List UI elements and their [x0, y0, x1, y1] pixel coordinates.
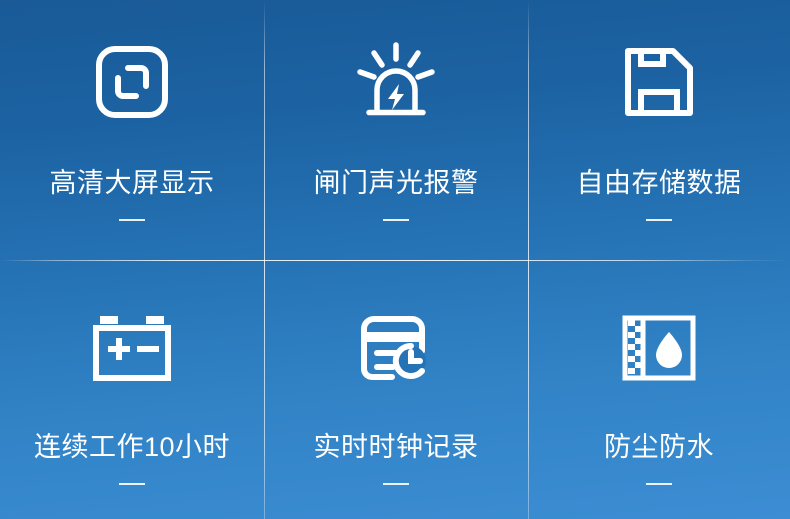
- feature-underline-dash: [383, 483, 409, 485]
- battery-icon: [92, 300, 172, 396]
- feature-title: 实时时钟记录: [314, 434, 479, 461]
- document-clock-icon: [360, 300, 432, 396]
- feature-title: 连续工作10小时: [34, 434, 230, 461]
- feature-title: 防尘防水: [604, 434, 714, 461]
- feature-highlights-panel: 高清大屏显示 闸门声光报警: [0, 0, 790, 519]
- feature-cell-data-storage[interactable]: 自由存储数据: [528, 0, 790, 260]
- dustproof-waterproof-icon: [622, 300, 696, 396]
- floppy-disk-save-icon: [623, 34, 695, 130]
- feature-title: 闸门声光报警: [314, 170, 479, 197]
- feature-title: 高清大屏显示: [50, 170, 215, 197]
- feature-cell-screen-display[interactable]: 高清大屏显示: [0, 0, 264, 260]
- screen-frame-icon: [95, 34, 169, 130]
- feature-title: 自由存储数据: [577, 170, 742, 197]
- feature-underline-dash: [646, 219, 672, 221]
- feature-underline-dash: [119, 483, 145, 485]
- feature-grid: 高清大屏显示 闸门声光报警: [0, 0, 790, 519]
- feature-underline-dash: [383, 219, 409, 221]
- feature-underline-dash: [119, 219, 145, 221]
- feature-underline-dash: [646, 483, 672, 485]
- feature-cell-realtime-clock[interactable]: 实时时钟记录: [264, 260, 528, 519]
- feature-cell-battery-life[interactable]: 连续工作10小时: [0, 260, 264, 519]
- feature-cell-gate-alarm[interactable]: 闸门声光报警: [264, 0, 528, 260]
- alarm-light-siren-icon: [354, 34, 438, 130]
- feature-cell-dust-water-proof[interactable]: 防尘防水: [528, 260, 790, 519]
